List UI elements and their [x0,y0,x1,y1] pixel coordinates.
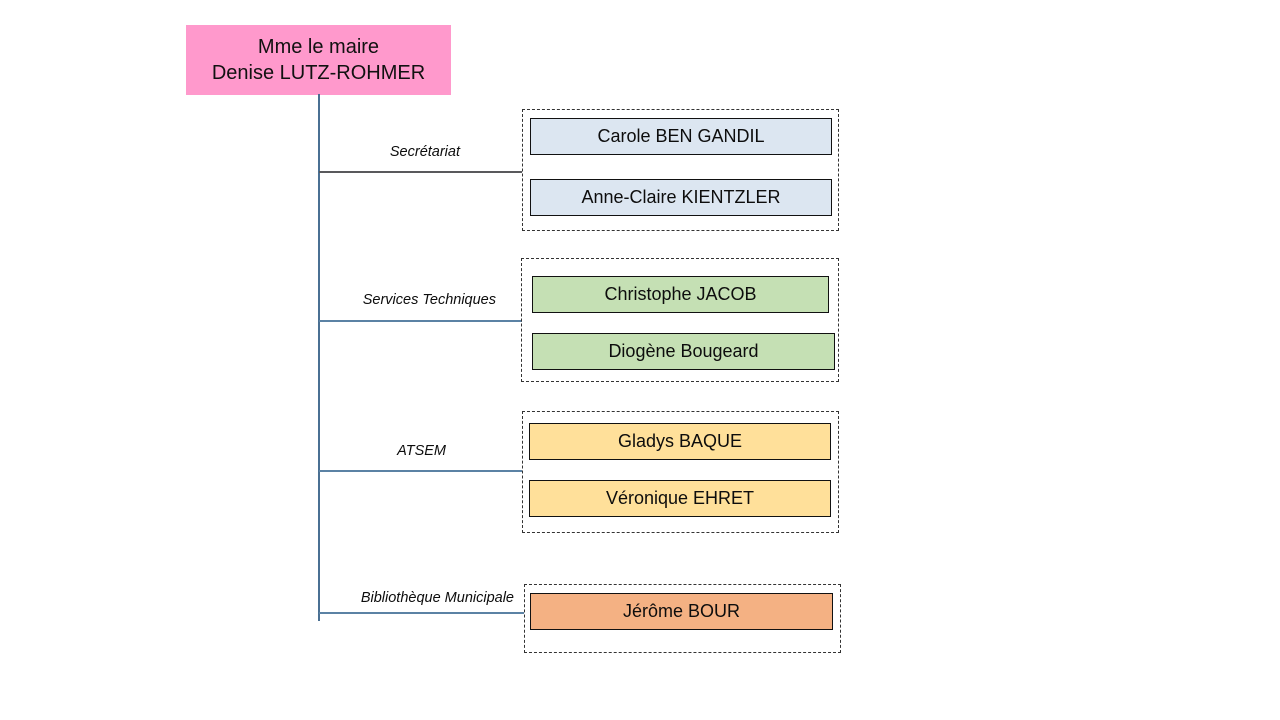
trunk-connector-line [318,94,320,621]
dept-label-services-techniques: Services Techniques [260,292,496,308]
person-box[interactable]: Gladys BAQUE [529,423,831,460]
person-box[interactable]: Véronique EHRET [529,480,831,517]
mayor-name: Denise LUTZ-ROHMER [212,60,425,86]
dept-label-atsem: ATSEM [260,443,446,459]
branch-connector-secretariat [319,171,522,173]
person-box[interactable]: Carole BEN GANDIL [530,118,832,155]
org-node-mayor[interactable]: Mme le maire Denise LUTZ-ROHMER [186,25,451,95]
dept-label-secretariat: Secrétariat [260,144,460,160]
branch-connector-services-techniques [319,320,522,322]
person-box[interactable]: Christophe JACOB [532,276,829,313]
org-chart: Mme le maire Denise LUTZ-ROHMER Secrétar… [0,0,1280,720]
branch-connector-bibliotheque [319,612,524,614]
dept-label-bibliotheque: Bibliothèque Municipale [260,590,514,606]
branch-connector-atsem [319,470,522,472]
person-box[interactable]: Jérôme BOUR [530,593,833,630]
person-box[interactable]: Anne-Claire KIENTZLER [530,179,832,216]
mayor-title: Mme le maire [258,34,379,60]
person-box[interactable]: Diogène Bougeard [532,333,835,370]
